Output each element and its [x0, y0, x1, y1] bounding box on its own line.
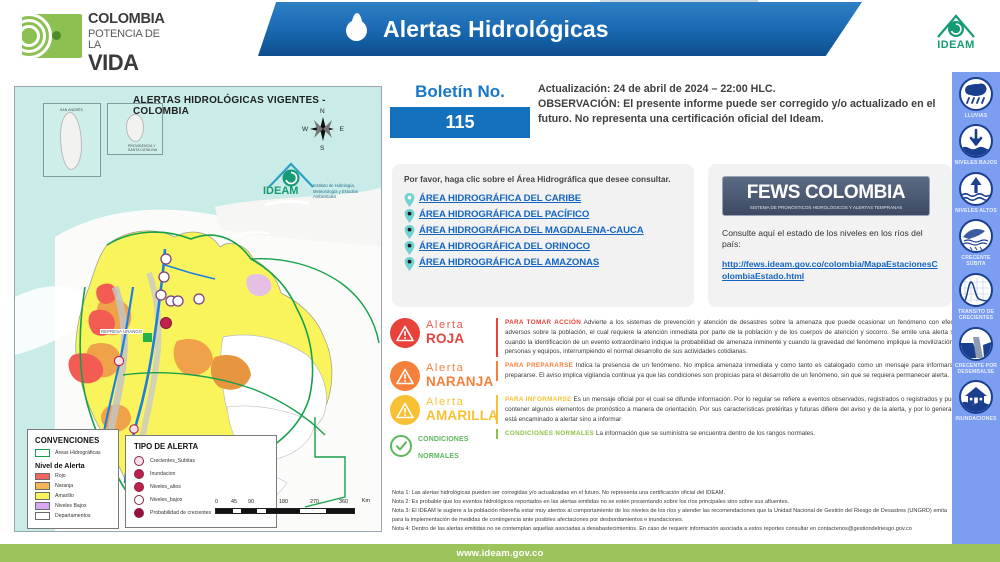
- alert-triangle-yellow-icon: [390, 395, 420, 425]
- rail-label-crecente-desembalse: CRECENTE POR DESEMBALSE: [952, 363, 1000, 376]
- icon-rail: LLUVIAS NIVELES BAJOS NIVELES ALTOS: [952, 72, 1000, 544]
- alert-body-normales: La información que se suministra se encu…: [596, 430, 815, 437]
- hydro-area-link-row[interactable]: ÁREA HIDROGRÁFICA DEL PACÍFICO: [404, 208, 684, 223]
- scale-tick-4: 270: [310, 499, 319, 505]
- alert-level-roja: ROJA: [426, 332, 464, 346]
- legend-row-level: Rojo: [35, 473, 112, 481]
- flash-flood-icon: [959, 219, 993, 253]
- update-info: Actualización: 24 de abril de 2024 – 22:…: [538, 82, 953, 128]
- hydro-area-link-orinoco[interactable]: ÁREA HIDROGRÁFICA DEL ORINOCO: [419, 240, 590, 254]
- hydro-area-link-amazonas[interactable]: ÁREA HIDROGRÁFICA DEL AMAZONAS: [419, 256, 599, 270]
- alert-row-amarilla: Alerta AMARILLA PARA INFORMARSE Es un me…: [390, 395, 962, 425]
- inset1-label: SAN ANDRÉS: [60, 108, 83, 112]
- rail-item-niveles-bajos[interactable]: NIVELES BAJOS: [952, 119, 1000, 166]
- map-inset-san-andres: SAN ANDRÉS: [43, 103, 101, 177]
- gov-logo-line2: POTENCIA DE LA: [88, 29, 172, 51]
- map-pin-icon: [404, 241, 415, 255]
- arrow-down-water-icon: [959, 124, 993, 158]
- page-header: COLOMBIA POTENCIA DE LA VIDA Alertas Hid…: [0, 0, 1000, 72]
- alert-triangle-red-icon: [390, 318, 420, 348]
- alert-lead-normales: CONDICIONES NORMALES: [505, 430, 594, 437]
- alert-badge-naranja: Alerta NARANJA: [390, 361, 496, 391]
- legend-label-departamentos: Departamentos: [55, 513, 90, 519]
- ideam-logo-label: IDEAM: [928, 39, 984, 51]
- legend2-label-2: Niveles_altos: [150, 484, 181, 490]
- map-represa-label: REPRESA URANGO: [100, 329, 143, 334]
- fews-logo[interactable]: FEWS COLOMBIA SISTEMA DE PRONÓSTICOS HID…: [722, 176, 930, 216]
- hydrograph-icon: [959, 273, 993, 307]
- legend2-label-0: Crecientes_Subitas: [150, 458, 195, 464]
- scale-tick-1: 45: [231, 499, 237, 505]
- ideam-logo: IDEAM: [928, 12, 984, 62]
- marker-niveles-altos-icon: [134, 482, 144, 492]
- legend-swatch-departamentos: [35, 512, 50, 520]
- legend-label-areas: Áreas Hidrográficas: [55, 450, 101, 456]
- rain-cloud-icon: [959, 77, 993, 111]
- alert-row-naranja: Alerta NARANJA PARA PREPARARSE Indica la…: [390, 361, 962, 391]
- marker-niveles-bajos-icon: [134, 495, 144, 505]
- colombia-waves-icon: [22, 14, 82, 58]
- alert-row-normales: CONDICIONES NORMALES CONDICIONES NORMALE…: [390, 429, 962, 463]
- map-ideam-label: IDEAM: [263, 185, 298, 197]
- hydro-area-link-row[interactable]: ÁREA HIDROGRÁFICA DEL AMAZONAS: [404, 256, 684, 271]
- main-content: Boletín No. 115 Actualización: 24 de abr…: [390, 80, 962, 532]
- alert-body-amarilla: Es un mensaje oficial por el cual se dif…: [505, 396, 962, 423]
- legend-row-level: Amarillo: [35, 492, 112, 500]
- alert-triangle-orange-icon: [390, 361, 420, 391]
- rail-item-crecente-desembalse[interactable]: CRECENTE POR DESEMBALSE: [952, 322, 1000, 376]
- page-footer: www.ideam.gov.co: [0, 544, 1000, 562]
- legend2-label-1: Inundacion: [150, 471, 175, 477]
- rail-label-transito-crecientes: TRANSITO DE CRECIENTES: [952, 309, 1000, 322]
- hydro-areas-card: Por favor, haga clic sobre el Área Hidro…: [392, 164, 694, 307]
- fews-url-link[interactable]: http://fews.ideam.gov.co/colombia/MapaEs…: [722, 259, 938, 281]
- alert-lead-amarilla: PARA INFORMARSE: [505, 396, 572, 403]
- scale-unit: Km: [362, 498, 370, 504]
- fews-logo-title: FEWS COLOMBIA: [747, 183, 905, 202]
- alert-desc-normales: CONDICIONES NORMALES La información que …: [496, 429, 962, 439]
- alert-badge-roja: Alerta ROJA: [390, 318, 496, 348]
- compass-west: W: [302, 126, 308, 133]
- marker-inundacion-icon: [134, 469, 144, 479]
- fews-card: FEWS COLOMBIA SISTEMA DE PRONÓSTICOS HID…: [708, 164, 952, 307]
- alert-body-naranja: Indica la presencia de un fenómeno. No i…: [505, 362, 962, 379]
- legend-swatch-naranja: [35, 482, 50, 490]
- legend-row-level: Niveles Bajos: [35, 502, 112, 510]
- rail-label-crecente-subita: CRECENTE SÚBITA: [952, 255, 1000, 268]
- page-title: Alertas Hidrológicas: [383, 16, 609, 43]
- map-pin-icon: [404, 225, 415, 239]
- note-1: Nota 1: Las alertas hidrológicas pueden …: [392, 489, 952, 498]
- alert-badge-amarilla: Alerta AMARILLA: [390, 395, 496, 425]
- fews-logo-subtitle: SISTEMA DE PRONÓSTICOS HIDROLÓGICOS Y AL…: [750, 205, 903, 210]
- legend-label-naranja: Naranja: [55, 483, 73, 489]
- rail-item-inundaciones[interactable]: INUNDACIONES: [952, 375, 1000, 422]
- note-2: Nota 2: Es probable que los eventos hidr…: [392, 498, 952, 507]
- scale-tick-0: 0: [215, 499, 218, 505]
- title-banner: Alertas Hidrológicas: [258, 2, 862, 56]
- rail-item-lluvias[interactable]: LLUVIAS: [952, 72, 1000, 119]
- legend2-label-4: Probabilidad de crecientes: [150, 510, 211, 516]
- legend-label-bajos: Niveles Bajos: [55, 503, 86, 509]
- map-title: ALERTAS HIDROLÓGICAS VIGENTES - COLOMBIA: [133, 95, 381, 117]
- legend-row-level: Departamentos: [35, 512, 112, 520]
- alert-label-roja: Alerta ROJA: [426, 320, 464, 346]
- legend-swatch-amarillo: [35, 492, 50, 500]
- check-circle-green-icon: [390, 435, 412, 457]
- rail-label-niveles-bajos: NIVELES BAJOS: [952, 160, 1000, 166]
- alert-lead-roja: PARA TOMAR ACCIÓN: [505, 319, 581, 326]
- rail-item-crecente-subita[interactable]: CRECENTE SÚBITA: [952, 214, 1000, 268]
- map-scalebar: 0 45 90 180 270 360 Km: [215, 499, 355, 514]
- legend-row-areas: Áreas Hidrográficas: [35, 449, 112, 457]
- footer-url[interactable]: www.ideam.gov.co: [457, 548, 544, 559]
- observation-text: OBSERVACIÓN: El presente informe puede s…: [538, 97, 953, 127]
- hydro-area-link-row[interactable]: ÁREA HIDROGRÁFICA DEL CARIBE: [404, 192, 684, 207]
- marker-probabilidad-crecientes-icon: [134, 508, 144, 518]
- rail-item-transito-crecientes[interactable]: TRANSITO DE CRECIENTES: [952, 268, 1000, 322]
- alert-level-amarilla: AMARILLA: [426, 409, 498, 423]
- marker-crecientes-subitas-icon: [134, 456, 144, 466]
- gov-logo-line3: VIDA: [88, 52, 172, 74]
- hydro-area-link-pacifico[interactable]: ÁREA HIDROGRÁFICA DEL PACÍFICO: [419, 208, 589, 222]
- bulletin-number: 115: [390, 107, 530, 138]
- legend-row-level: Naranja: [35, 482, 112, 490]
- rail-label-inundaciones: INUNDACIONES: [952, 416, 1000, 422]
- alert-badge-normales: CONDICIONES NORMALES: [390, 429, 496, 463]
- legend2-title: TIPO DE ALERTA: [134, 442, 270, 451]
- map-pin-icon: [404, 193, 415, 207]
- hydro-area-link-magdalena-cauca[interactable]: ÁREA HIDROGRÁFICA DEL MAGDALENA-CAUCA: [419, 224, 644, 238]
- alerts-map-panel[interactable]: ALERTAS HIDROLÓGICAS VIGENTES - COLOMBIA…: [14, 86, 382, 532]
- flooded-house-icon: [959, 380, 993, 414]
- legend2-row: Niveles_altos: [134, 482, 270, 492]
- map-pin-icon: [404, 257, 415, 271]
- alert-label-normales: CONDICIONES NORMALES: [418, 429, 496, 463]
- scale-tick-5: 360: [339, 499, 348, 505]
- legend-label-rojo: Rojo: [55, 473, 66, 479]
- hydro-area-link-row[interactable]: ÁREA HIDROGRÁFICA DEL ORINOCO: [404, 240, 684, 255]
- alert-word-roja: Alerta: [426, 320, 464, 332]
- legend-swatch-bajos: [35, 502, 50, 510]
- arrow-up-water-icon: [959, 172, 993, 206]
- rail-label-niveles-altos: NIVELES ALTOS: [952, 208, 1000, 214]
- legend-title: CONVENCIONES: [35, 436, 112, 445]
- alert-label-amarilla: Alerta AMARILLA: [426, 397, 498, 423]
- compass-south: S: [320, 145, 324, 152]
- legend-subtitle: Nivel de Alerta: [35, 461, 112, 470]
- scale-tick-2: 90: [248, 499, 254, 505]
- legend-swatch-rojo: [35, 473, 50, 481]
- alert-levels-section: Alerta ROJA PARA TOMAR ACCIÓN Advierte a…: [390, 318, 962, 467]
- colombia-gov-logo: COLOMBIA POTENCIA DE LA VIDA: [22, 12, 172, 60]
- hydro-areas-intro: Por favor, haga clic sobre el Área Hidro…: [404, 174, 684, 185]
- map-legend-conventions: CONVENCIONES Áreas Hidrográficas Nivel d…: [27, 429, 119, 529]
- legend2-label-3: Niveles_bajos: [150, 497, 182, 503]
- rail-item-niveles-altos[interactable]: NIVELES ALTOS: [952, 167, 1000, 214]
- legend-label-amarillo: Amarillo: [55, 493, 74, 499]
- alert-row-roja: Alerta ROJA PARA TOMAR ACCIÓN Advierte a…: [390, 318, 962, 357]
- alert-desc-roja: PARA TOMAR ACCIÓN Advierte a los sistema…: [496, 318, 962, 357]
- bulletin-label: Boletín No.: [390, 82, 530, 102]
- legend-swatch-areas: [35, 449, 50, 457]
- alert-label-naranja: Alerta NARANJA: [426, 363, 493, 389]
- alert-word-naranja: Alerta: [426, 363, 493, 375]
- alert-desc-naranja: PARA PREPARARSE Indica la presencia de u…: [496, 361, 962, 381]
- alert-desc-amarilla: PARA INFORMARSE Es un mensaje oficial po…: [496, 395, 962, 424]
- map-pin-icon: [404, 209, 415, 223]
- alert-word-amarilla: Alerta: [426, 397, 498, 409]
- ideam-roof-icon: [932, 12, 980, 38]
- hydro-area-link-caribe[interactable]: ÁREA HIDROGRÁFICA DEL CARIBE: [419, 192, 581, 206]
- note-3: Nota 3: El IDEAM le sugiere a la poblaci…: [392, 507, 952, 525]
- alert-level-naranja: NARANJA: [426, 375, 493, 389]
- water-drop-icon: [346, 14, 368, 44]
- legend2-row: Inundacion: [134, 469, 270, 479]
- alert-level-normales: CONDICIONES NORMALES: [418, 436, 469, 460]
- legend2-row: Crecientes_Subitas: [134, 456, 270, 466]
- gov-logo-line1: COLOMBIA: [88, 12, 172, 27]
- dam-icon: [959, 327, 993, 361]
- alert-lead-naranja: PARA PREPARARSE: [505, 362, 573, 369]
- map-canvas[interactable]: ALERTAS HIDROLÓGICAS VIGENTES - COLOMBIA…: [15, 87, 381, 531]
- update-line: Actualización: 24 de abril de 2024 – 22:…: [538, 82, 953, 97]
- map-legend-alert-types: TIPO DE ALERTA Crecientes_Subitas Inunda…: [125, 435, 277, 528]
- hydro-area-link-row[interactable]: ÁREA HIDROGRÁFICA DEL MAGDALENA-CAUCA: [404, 224, 684, 239]
- notes-section: Nota 1: Las alertas hidrológicas pueden …: [392, 489, 952, 534]
- scale-tick-3: 180: [279, 499, 288, 505]
- bulletin-block: Boletín No. 115: [390, 82, 530, 138]
- note-4: Nota 4: Dentro de las alertas emitidas n…: [392, 525, 952, 534]
- fews-text: Consulte aquí el estado de los niveles e…: [722, 228, 938, 250]
- map-ideam-sub: Instituto de Hidrología, Meteorología y …: [313, 183, 369, 200]
- inset2-label: PROVIDENCIA Y SANTA CATALINA: [128, 144, 162, 152]
- map-ideam-watermark: IDEAM Instituto de Hidrología, Meteorolo…: [263, 159, 369, 199]
- compass-east: E: [340, 126, 344, 133]
